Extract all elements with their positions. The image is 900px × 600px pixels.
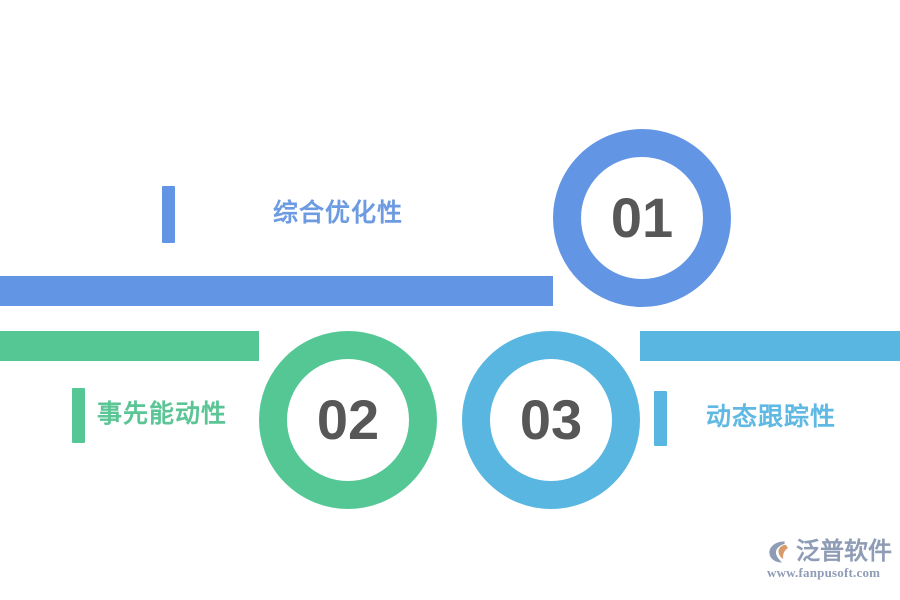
watermark-logo: 泛普软件 www.fanpusoft.com — [766, 538, 894, 584]
step-number-02: 02 — [317, 392, 379, 448]
connector-bar-blue — [0, 276, 645, 306]
step-label-03: 动态跟踪性 — [706, 405, 836, 430]
step-number-01: 01 — [611, 190, 673, 246]
fanpu-logo-icon — [766, 538, 793, 565]
step-ring-01[interactable]: 01 — [553, 129, 731, 307]
step-label-02: 事先能动性 — [97, 402, 227, 427]
accent-tick-01 — [162, 186, 175, 243]
logo-name: 泛普软件 — [796, 540, 892, 564]
step-ring-02[interactable]: 02 — [259, 331, 437, 509]
infographic-canvas: 01 02 03 综合优化性 事先能动性 动态跟踪性 泛普软件 www.fanp… — [0, 0, 900, 600]
logo-row: 泛普软件 — [766, 538, 892, 565]
step-ring-03[interactable]: 03 — [462, 331, 640, 509]
step-number-03: 03 — [520, 392, 582, 448]
step-label-01: 综合优化性 — [273, 201, 403, 226]
logo-url: www.fanpusoft.com — [767, 566, 880, 579]
accent-tick-03 — [654, 391, 667, 446]
accent-tick-02 — [72, 388, 85, 443]
